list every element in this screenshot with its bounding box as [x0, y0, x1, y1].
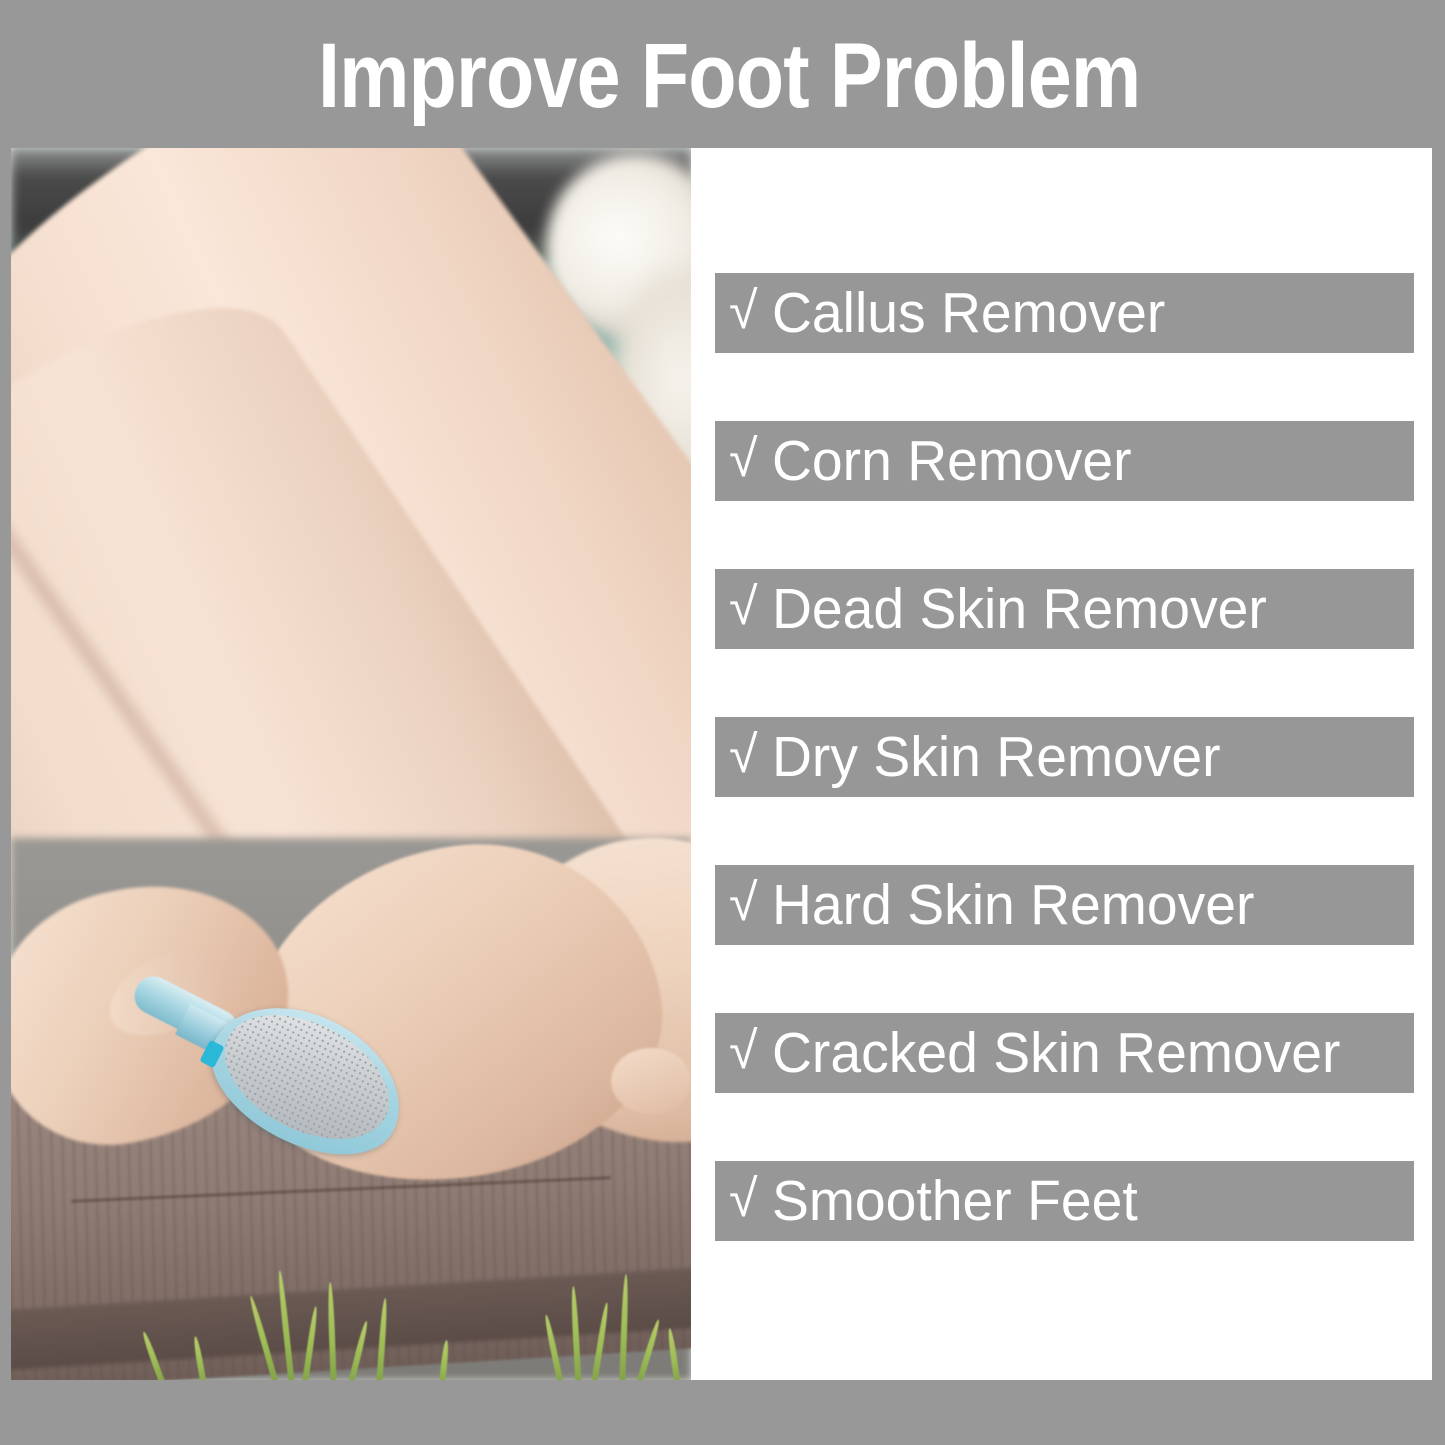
feature-row[interactable]: √ Hard Skin Remover [715, 865, 1414, 945]
grass [11, 1230, 691, 1380]
feature-label: Cracked Skin Remover [772, 1025, 1340, 1082]
feature-row[interactable]: √ Callus Remover [715, 273, 1414, 353]
title-bar: Improve Foot Problem [0, 0, 1445, 148]
feature-row[interactable]: √ Dead Skin Remover [715, 569, 1414, 649]
check-icon: √ [729, 729, 758, 781]
check-icon: √ [729, 1025, 758, 1077]
feature-label: Corn Remover [772, 433, 1132, 490]
toe [611, 1048, 691, 1114]
feature-row[interactable]: √ Corn Remover [715, 421, 1414, 501]
check-icon: √ [729, 581, 758, 633]
product-photo [11, 148, 691, 1380]
check-icon: √ [729, 1173, 758, 1225]
check-icon: √ [729, 433, 758, 485]
page-title: Improve Foot Problem [318, 30, 1140, 122]
feature-label: Dead Skin Remover [772, 581, 1267, 638]
feature-label: Dry Skin Remover [772, 729, 1221, 786]
feature-row[interactable]: √ Dry Skin Remover [715, 717, 1414, 797]
feature-label: Callus Remover [772, 285, 1165, 342]
feature-label: Hard Skin Remover [772, 877, 1254, 934]
check-icon: √ [729, 877, 758, 929]
product-infographic: Improve Foot Problem [0, 0, 1445, 1445]
feature-label: Smoother Feet [772, 1173, 1138, 1230]
feature-row[interactable]: √ Smoother Feet [715, 1161, 1414, 1241]
features-panel: √ Callus Remover √ Corn Remover √ Dead S… [691, 148, 1432, 1380]
features-list: √ Callus Remover √ Corn Remover √ Dead S… [715, 273, 1414, 1241]
feature-row[interactable]: √ Cracked Skin Remover [715, 1013, 1414, 1093]
check-icon: √ [729, 285, 758, 337]
